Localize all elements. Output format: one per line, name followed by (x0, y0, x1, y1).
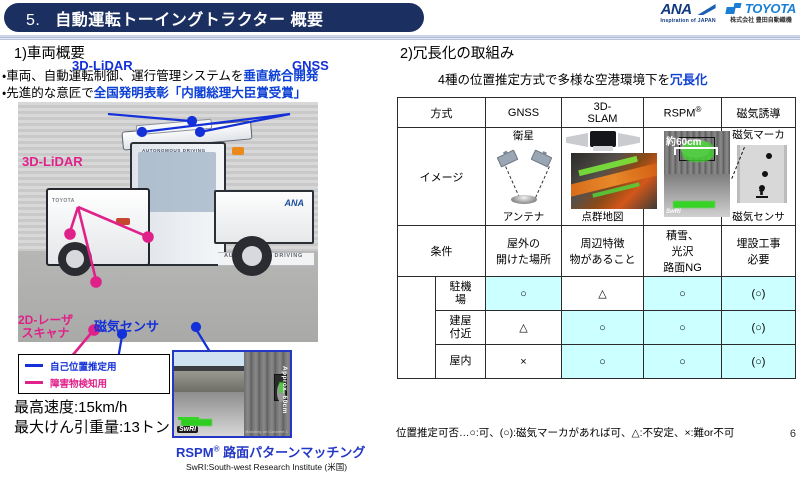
label-gnss: GNSS (292, 58, 329, 73)
rspm-inset-approx-label: Approx. 60cm (281, 366, 288, 414)
bullet-2-emphasis: 全国発明表彰「内閣総理大臣賞受賞」 (94, 86, 307, 100)
row-label-indoor: 屋内 (436, 345, 486, 379)
rspm-caption-rest: 路面パターンマッチング (219, 445, 365, 460)
rspm-registered-icon: ® (695, 105, 701, 114)
list-item: ・車両、自動運転制御、運行管理システムを垂直統合開発 (2, 68, 392, 85)
satellite-icon (531, 150, 553, 168)
cell-indoor-3d-slam: ○ (562, 345, 644, 379)
swri-footnote: SwRI:South-west Research Institute (米国) (186, 461, 347, 473)
table-row-label-condition: 条件 (398, 226, 486, 277)
point-cloud-map-label: 点群地図 (564, 212, 641, 224)
cell-image-magnetic: 磁気マーカ 磁気センサ (722, 128, 796, 226)
table-header-method: 方式 (398, 98, 486, 128)
cell-indoor-rspm: ○ (644, 345, 722, 379)
cell-indoor-magnetic: (○) (722, 345, 796, 379)
table-row: 屋内 × ○ ○ (○) (398, 345, 796, 379)
lidar-base-icon (593, 146, 613, 151)
right-section-title: 2)冗長化の取組み (400, 42, 800, 63)
callout-legend: 自己位置推定用 障害物検知用 (18, 354, 170, 394)
header-divider (0, 35, 800, 40)
table-row: 駐機 場 ○ △ ○ (○) (398, 277, 796, 311)
left-bullet-list: ・車両、自動運転制御、運行管理システムを垂直統合開発 ・先進的な意匠で全国発明表… (2, 68, 392, 101)
magnetic-path-dash (731, 147, 771, 189)
table-footnote: 位置推定可否…○:可、(○):磁気マーカがあれば可、△:不安定、×:難or不可 (396, 425, 734, 440)
rspm-pattern-image: 約60cm SwRI (664, 131, 730, 217)
table-header-3d-slam: 3D- SLAM (562, 98, 644, 128)
gnss-antenna-label: アンテナ (488, 212, 559, 224)
bullet-2-text: ・先進的な意匠で (2, 86, 94, 100)
legend-label-localization: 自己位置推定用 (50, 359, 117, 373)
table-image-row: イメージ 衛星 アンテナ (398, 128, 796, 226)
toyota-industries-icon (726, 3, 742, 15)
redundancy-table: 方式 GNSS 3D- SLAM RSPM® 磁気誘導 イメージ 衛星 (397, 97, 796, 379)
slam-diagram: 点群地図 (564, 129, 641, 224)
lidar-beam-icon (566, 133, 588, 147)
cell-condition-magnetic: 埋設工事 必要 (722, 226, 796, 277)
cell-condition-rspm: 積雪、 光沢 路面NG (644, 226, 722, 277)
label-magnetic-sensor: 磁気センサ (94, 316, 159, 335)
label-2d-laser-scanner: 2D-レーザ スキャナ (18, 314, 73, 340)
cell-condition-3d-slam: 周辺特徴 物があること (562, 226, 644, 277)
vehicle-photo: AUTONOMOUS DRIVING TOYOTA ANA AUTONOMOUS… (18, 102, 318, 342)
right-lead-emphasis: 冗長化 (670, 73, 708, 87)
ana-logo-mark: ANA (661, 2, 716, 17)
cell-image-rspm: 約60cm SwRI (644, 128, 722, 226)
vehicle-beacon-light (232, 147, 244, 155)
gnss-satellite-label: 衛星 (488, 131, 559, 143)
vehicle-rear-wheel (232, 236, 272, 276)
cell-image-gnss: 衛星 アンテナ (486, 128, 562, 226)
rspm-size-label: 約60cm (666, 133, 702, 148)
vehicle-ana-marking: ANA (285, 198, 305, 208)
row-label-apron: 駐機 場 (436, 277, 486, 311)
ana-logo: ANA Inspiration of JAPAN (660, 2, 716, 24)
spacer-cell (398, 345, 436, 379)
toyota-logo-mark: TOYOTA (726, 2, 796, 15)
table-header-row: 方式 GNSS 3D- SLAM RSPM® 磁気誘導 (398, 98, 796, 128)
rspm-caption: RSPM® 路面パターンマッチング (176, 442, 365, 461)
legend-item-localization: 自己位置推定用 (25, 359, 163, 373)
spec-max-tow-weight: 最大けん引重量:13トン (14, 418, 170, 438)
vehicle-front-wheel (58, 242, 92, 276)
magnetic-diagram: 磁気マーカ 磁気センサ (724, 129, 793, 224)
cell-near-building-rspm: ○ (644, 311, 722, 345)
cell-condition-gnss: 屋外の 開けた場所 (486, 226, 562, 277)
rspm-swri-mark: SwRI (666, 209, 681, 215)
table-row: 建屋 付近 △ ○ ○ (○) (398, 311, 796, 345)
antenna-icon (511, 195, 537, 204)
cell-near-building-magnetic: (○) (722, 311, 796, 345)
toyota-logo: TOYOTA 株式会社 豊田自動織機 (726, 2, 796, 24)
spacer-cell (398, 277, 436, 311)
table-header-gnss: GNSS (486, 98, 562, 128)
rspm-diagram: 約60cm SwRI (646, 129, 719, 224)
ana-swoosh-icon (694, 4, 716, 15)
lidar-device-icon (590, 131, 616, 147)
cell-apron-3d-slam: △ (562, 277, 644, 311)
page-title: 5. 自動運転トーイングトラクター 概要 (4, 6, 324, 30)
table-header-rspm: RSPM® (644, 98, 722, 128)
cell-indoor-gnss: × (486, 345, 562, 379)
rspm-inset-caption: Ranger Surface Matching on Concrete 1 (216, 430, 288, 434)
vehicle-cab-label: AUTONOMOUS DRIVING (142, 148, 206, 153)
legend-swatch-pink (25, 381, 43, 384)
magnetic-sensor-icon (756, 188, 768, 198)
ana-tagline: Inspiration of JAPAN (660, 19, 716, 24)
cell-image-3d-slam: 点群地図 (562, 128, 644, 226)
toyota-company-name: 株式会社 豊田自動織機 (730, 18, 792, 24)
toyota-wordmark: TOYOTA (745, 2, 796, 15)
legend-item-obstacle: 障害物検知用 (25, 376, 163, 390)
table-condition-row: 条件 屋外の 開けた場所 周辺特徴 物があること 積雪、 光沢 路面NG 埋設工… (398, 226, 796, 277)
vehicle-tail-lamp (116, 218, 130, 225)
magnetic-lane-image (737, 145, 787, 203)
right-lead-text: 4種の位置推定方式で多様な空港環境下を冗長化 (438, 69, 800, 88)
page-number: 6 (790, 428, 796, 440)
label-3d-lidar-side: 3D-LiDAR (22, 154, 83, 169)
right-panel: 2)冗長化の取組み 4種の位置推定方式で多様な空港環境下を冗長化 方式 GNSS… (392, 42, 800, 447)
cell-near-building-3d-slam: ○ (562, 311, 644, 345)
spec-max-speed: 最高速度:15km/h (14, 398, 170, 418)
left-section-title: 1)車両概要 (14, 42, 392, 63)
rspm-inset-road-view (174, 352, 244, 392)
rspm-caption-main: RSPM (176, 445, 214, 460)
slide-title-bar: 5. 自動運転トーイングトラクター 概要 (4, 3, 424, 32)
legend-swatch-blue (25, 364, 43, 367)
label-3d-lidar-top: 3D-LiDAR (72, 58, 133, 73)
list-item: ・先進的な意匠で全国発明表彰「内閣総理大臣賞受賞」 (2, 85, 392, 102)
cell-apron-gnss: ○ (486, 277, 562, 311)
table-row-label-image: イメージ (398, 128, 486, 226)
slide-number: 5. (26, 12, 40, 29)
satellite-icon (497, 150, 519, 168)
slide-title-text: 自動運転トーイングトラクター 概要 (55, 12, 323, 29)
vehicle-rear-deck: ANA (214, 190, 314, 244)
legend-label-obstacle: 障害物検知用 (50, 376, 107, 390)
rspm-inset-swri-mark: SwRI (177, 426, 198, 433)
measure-bracket-icon (674, 147, 718, 155)
spacer-cell (398, 311, 436, 345)
cell-apron-magnetic: (○) (722, 277, 796, 311)
magnetic-marker-label: 磁気マーカ (724, 130, 793, 142)
table-header-magnetic: 磁気誘導 (722, 98, 796, 128)
rspm-inset-photo: Approx. 60cm SwRI Ranger Surface Matchin… (172, 350, 292, 438)
lidar-beam-icon (618, 133, 640, 147)
magnetic-sensor-label: 磁気センサ (724, 212, 793, 224)
magnetic-marker-dot (762, 171, 768, 177)
gnss-diagram: 衛星 アンテナ (488, 129, 559, 224)
ana-wordmark: ANA (661, 2, 692, 17)
cell-apron-rspm: ○ (644, 277, 722, 311)
point-cloud-map-image (571, 153, 657, 209)
magnetic-marker-dot (766, 153, 772, 159)
vehicle-badge: TOYOTA (52, 198, 75, 204)
logo-group: ANA Inspiration of JAPAN TOYOTA 株式会社 豊田自… (660, 2, 796, 32)
left-panel: 1)車両概要 ・車両、自動運転制御、運行管理システムを垂直統合開発 ・先進的な意… (0, 42, 392, 447)
vehicle-specs: 最高速度:15km/h 最大けん引重量:13トン (14, 398, 170, 438)
row-label-near-building: 建屋 付近 (436, 311, 486, 345)
cell-near-building-gnss: △ (486, 311, 562, 345)
